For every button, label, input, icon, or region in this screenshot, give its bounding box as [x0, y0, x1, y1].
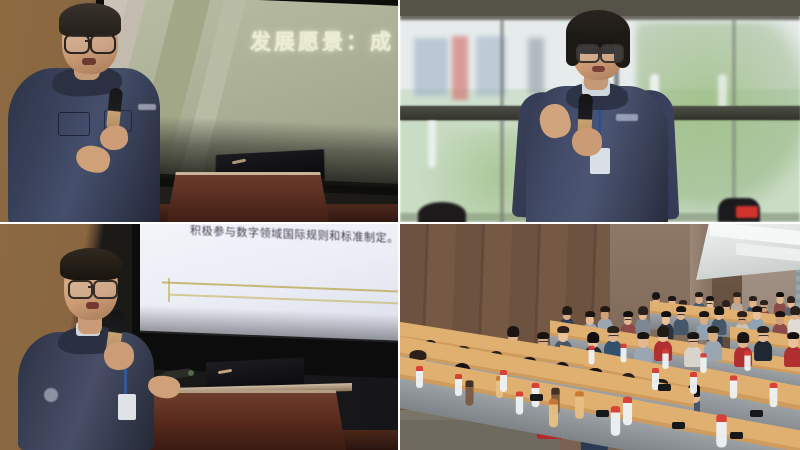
photo-collage: 发展愿景：成 [0, 0, 800, 450]
audience-hair [668, 296, 676, 301]
audience-hair [760, 300, 768, 305]
speaker-hair [59, 3, 121, 37]
audience-hair [585, 311, 595, 317]
audience-hair [708, 326, 720, 333]
audience-hair [623, 311, 633, 317]
eyeglasses-icon [90, 34, 116, 54]
audience-head [777, 295, 784, 303]
smartphone [658, 384, 671, 391]
eyeglasses-icon [758, 335, 769, 340]
audience-head [696, 295, 703, 303]
building-outside [528, 38, 544, 94]
water-bottle [589, 346, 595, 365]
speaker-mouth [86, 302, 99, 309]
audience-hair [733, 292, 741, 297]
audience-hair [558, 326, 570, 333]
wooden-podium [166, 172, 330, 222]
audience-hair [676, 306, 686, 312]
audience-hair [538, 332, 550, 339]
eyeglasses-icon [688, 341, 699, 346]
lamp-post [428, 118, 436, 168]
audience-torso [754, 340, 772, 361]
audience-hair [714, 306, 724, 315]
audience-hair [749, 296, 757, 301]
eyeglasses-bridge [85, 40, 92, 42]
audience-hair [688, 332, 700, 339]
water-bottle [455, 374, 462, 396]
audience-hair [638, 332, 650, 339]
window-mullion [500, 18, 504, 222]
foreground-audience-head [418, 202, 466, 222]
smartphone [596, 410, 609, 417]
speaker-hand-holding-mic [572, 128, 602, 156]
eyeglasses-icon [576, 44, 600, 63]
smartphone [730, 432, 743, 439]
audience-hair [787, 296, 795, 303]
audience-member [788, 308, 800, 334]
water-bottle [416, 366, 423, 388]
audience-hair [658, 326, 670, 337]
water-bottle [716, 415, 727, 448]
audience-hair [788, 332, 800, 339]
smartphone [750, 410, 763, 417]
slide-accent-line [168, 278, 170, 302]
eyeglasses-bridge [88, 286, 94, 288]
speaker-hair [60, 248, 122, 280]
water-bottle [621, 344, 627, 363]
eyeglasses-icon [600, 44, 624, 63]
name-badge [118, 394, 136, 420]
audience-hair [588, 332, 600, 343]
eyeglasses-icon [563, 314, 572, 319]
audience-member [705, 328, 722, 360]
water-bottle [549, 399, 558, 428]
audience-hair [695, 292, 703, 297]
photo-panel-bottom-left: 积极参与数字领域国际规则和标准制定。 [0, 224, 398, 450]
eyeglasses-icon [68, 280, 93, 299]
audience-member [674, 308, 688, 334]
eyeglasses-bridge [595, 50, 601, 52]
water-bottle [611, 406, 620, 436]
water-bottle [623, 397, 632, 426]
water-bottle [575, 391, 584, 419]
audience-hair [776, 292, 784, 297]
eyeglasses-icon [791, 314, 800, 319]
audience-head [733, 295, 740, 303]
building-outside [452, 36, 468, 100]
eyeglasses-icon [677, 314, 686, 319]
jacket-logo [44, 388, 58, 402]
photo-panel-top-left: 发展愿景：成 [0, 0, 398, 222]
audience-member [755, 328, 772, 360]
smartphone [672, 422, 685, 429]
eyeglasses-icon [608, 335, 619, 340]
jacket-pocket [58, 112, 90, 136]
building-outside [414, 38, 448, 96]
audience-torso [784, 346, 800, 367]
smartphone [530, 394, 543, 401]
water-bottle [662, 349, 668, 369]
audience-torso [674, 318, 689, 336]
water-bottle [744, 351, 750, 371]
audience-member [685, 334, 702, 366]
water-bottle [500, 370, 507, 392]
water-bottle [700, 353, 706, 373]
audience-hair [758, 326, 770, 333]
audience-hair [752, 306, 762, 312]
eyeglasses-icon [64, 34, 90, 54]
audience-hair [608, 326, 620, 333]
wooden-podium [140, 390, 346, 450]
audience-hair [737, 311, 747, 317]
audience-hair [699, 311, 709, 317]
audience-member [785, 334, 800, 366]
audience-hair [508, 326, 520, 337]
eyeglasses-icon [738, 319, 747, 324]
window-mullion [732, 18, 736, 222]
water-bottle [770, 383, 778, 407]
audience-hair [722, 300, 730, 307]
audience-hair [638, 306, 648, 315]
slide-text: 发展愿景：成 [250, 26, 398, 60]
speaker-mouth [82, 58, 96, 65]
audience-hair [600, 306, 610, 312]
jacket-logo [616, 114, 638, 121]
audience-hair [738, 332, 750, 343]
audience-member [636, 308, 650, 334]
speaker-mouth [592, 66, 605, 72]
jacket-logo [138, 104, 156, 110]
audience-hair [775, 311, 785, 317]
water-bottle [690, 372, 697, 394]
audience-torso [704, 340, 722, 361]
photo-panel-bottom-right [400, 224, 800, 450]
water-bottle [730, 375, 737, 398]
water-bottle [516, 391, 523, 414]
audience-hair [706, 296, 714, 301]
thermos [465, 380, 473, 405]
red-marker [736, 206, 758, 218]
audience-hair [661, 311, 671, 317]
eyeglasses-icon [93, 280, 118, 299]
eyeglasses-icon [624, 319, 633, 324]
clicker-led [188, 370, 194, 376]
photo-panel-top-right [400, 0, 800, 222]
